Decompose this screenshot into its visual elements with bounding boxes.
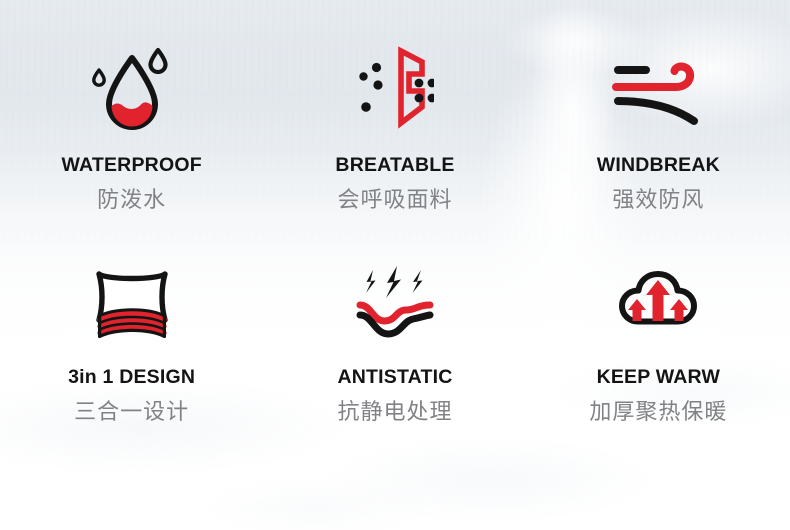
water-droplet-icon [89, 42, 175, 138]
feature-subtitle: 三合一设计 [74, 401, 189, 423]
feature-banner: WATERPROOF 防泼水 [0, 0, 790, 530]
feature-title: WINDBREAK [597, 156, 720, 176]
cloud-up-arrows-icon [612, 258, 704, 350]
feature-grid: WATERPROOF 防泼水 [0, 0, 790, 530]
wind-lines-icon [610, 42, 706, 138]
feature-subtitle: 加厚聚热保暖 [589, 401, 727, 423]
feature-item-waterproof: WATERPROOF 防泼水 [0, 42, 263, 258]
feature-item-breathable: BREATABLE 会呼吸面料 [263, 42, 526, 258]
feature-title: WATERPROOF [62, 156, 202, 176]
feature-title: KEEP WARW [597, 368, 721, 388]
feature-title: ANTISTATIC [337, 368, 452, 388]
breathable-membrane-icon [356, 42, 434, 138]
feature-subtitle: 抗静电处理 [337, 401, 452, 423]
layered-fabric-icon [87, 258, 177, 350]
feature-subtitle: 强效防风 [612, 189, 704, 211]
feature-item-keep-warm: KEEP WARW 加厚聚热保暖 [527, 258, 790, 474]
feature-title: 3in 1 DESIGN [68, 368, 195, 388]
lightning-wave-icon [351, 258, 439, 350]
feature-item-antistatic: ANTISTATIC 抗静电处理 [263, 258, 526, 474]
feature-item-windbreak: WINDBREAK 强效防风 [527, 42, 790, 258]
feature-item-3in1-design: 3in 1 DESIGN 三合一设计 [0, 258, 263, 474]
feature-subtitle: 防泼水 [97, 189, 166, 211]
feature-title: BREATABLE [335, 156, 454, 176]
feature-subtitle: 会呼吸面料 [337, 189, 452, 211]
